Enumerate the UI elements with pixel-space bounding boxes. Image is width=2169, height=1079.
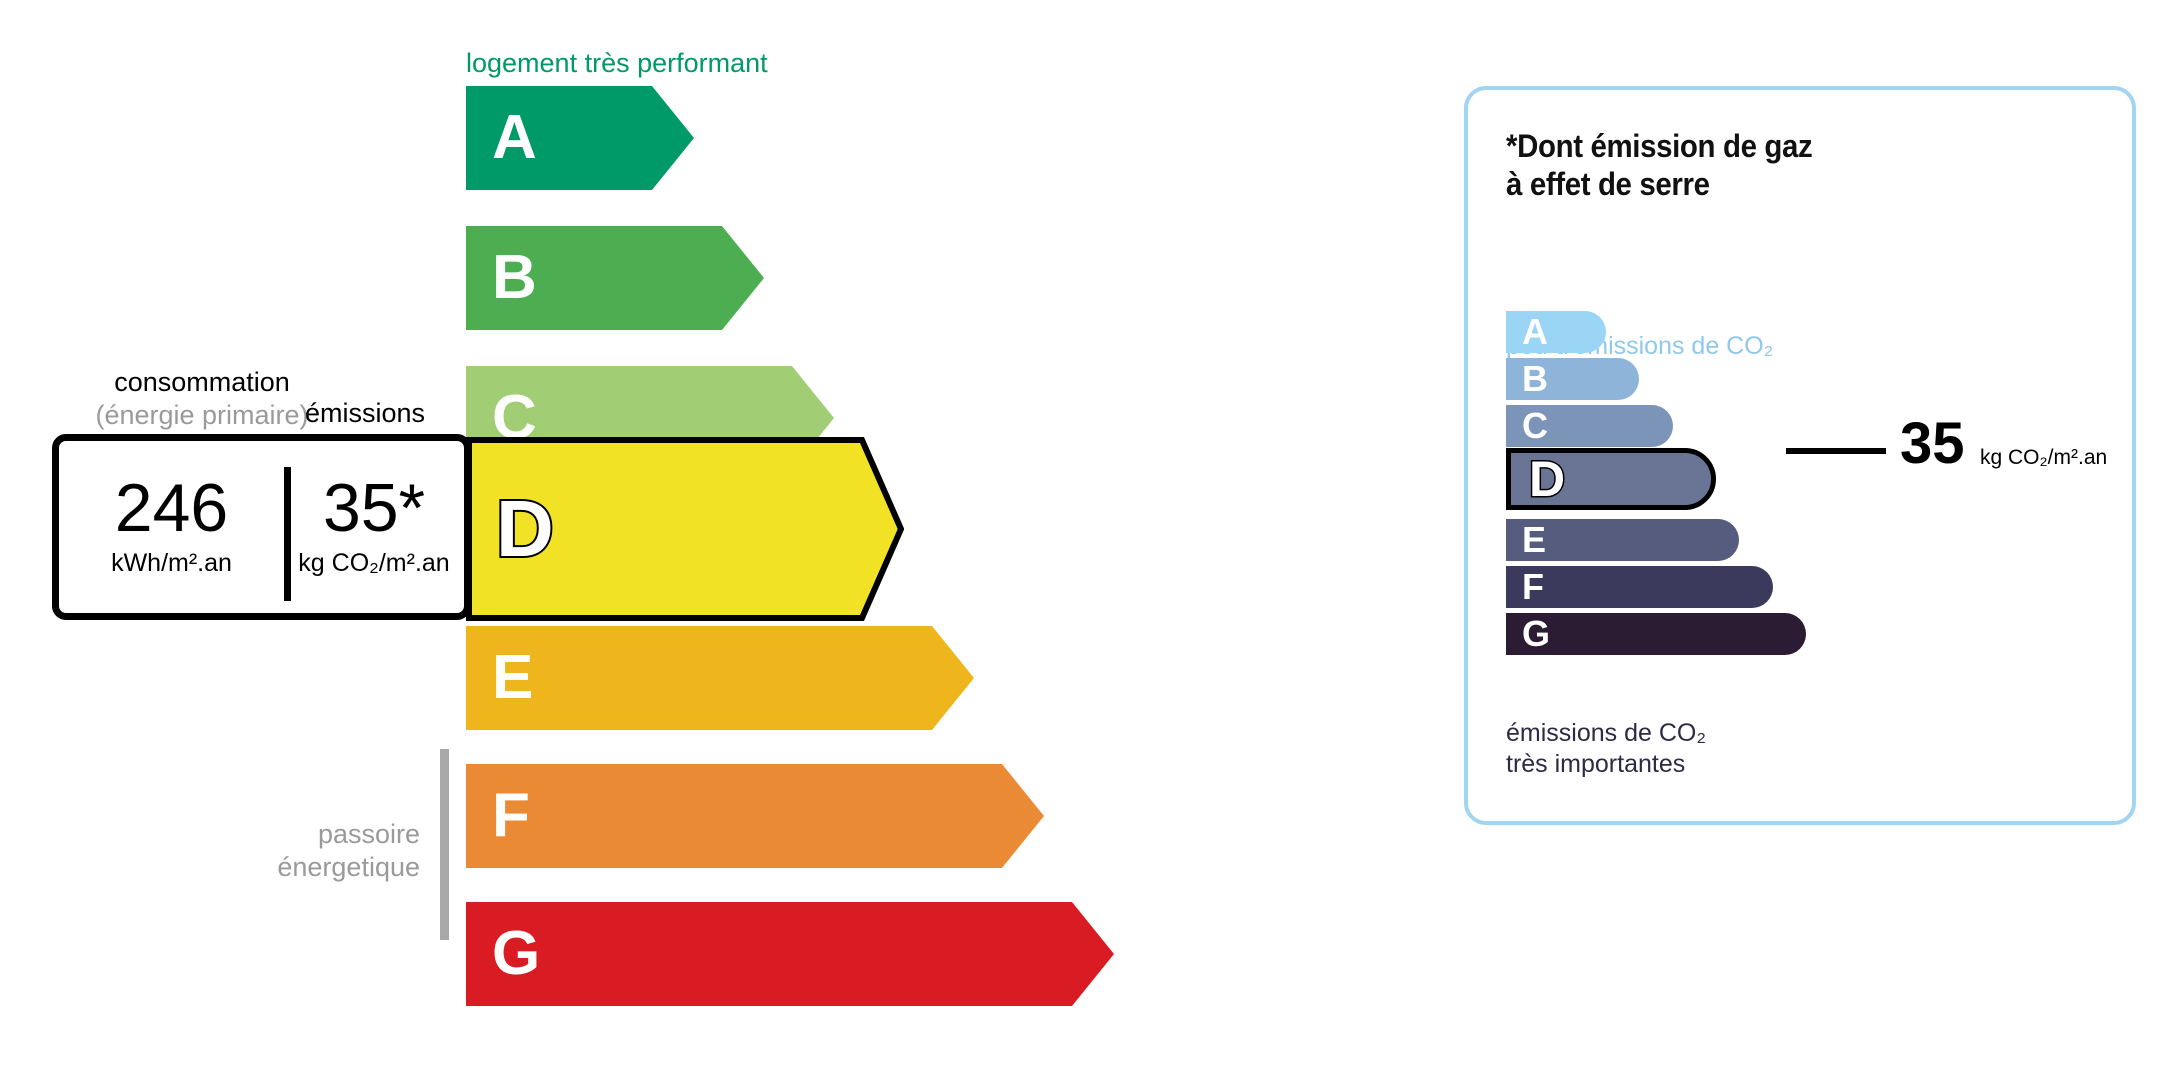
co2-bar-letter-g: G — [1522, 616, 1550, 652]
co2-bar-f: F — [1506, 566, 1773, 608]
co2-bar-fill-b: B — [1506, 358, 1639, 400]
consumption-value-cell: 246 kWh/m².an — [59, 441, 284, 613]
energy-bar-a: A — [466, 86, 694, 190]
energy-bar-shape-e — [466, 626, 974, 730]
co2-value-unit: kg CO₂/m².an — [1980, 447, 2107, 468]
co2-bar-fill-f: F — [1506, 566, 1773, 608]
energy-bar-e: E — [466, 626, 974, 730]
co2-bar-letter-a: A — [1522, 314, 1548, 350]
co2-bar-fill-g: G — [1506, 613, 1806, 655]
consumption-label-main: consommation — [114, 367, 290, 397]
consumption-unit: kWh/m².an — [111, 549, 232, 578]
energy-bar-letter-d: D — [496, 489, 554, 569]
value-box-divider — [284, 467, 291, 601]
energy-bar-letter-e: E — [492, 647, 533, 709]
consumption-value: 246 — [115, 476, 228, 541]
passoire-line1: passoire — [318, 819, 420, 849]
co2-bar-fill-d: D — [1506, 448, 1716, 510]
co2-bar-letter-c: C — [1522, 408, 1548, 444]
passoire-energetique-marker — [440, 749, 449, 940]
co2-bar-g: G — [1506, 613, 1806, 655]
co2-bar-fill-c: C — [1506, 405, 1673, 447]
energy-bar-letter-f: F — [492, 785, 530, 847]
co2-bar-e: E — [1506, 519, 1739, 561]
co2-bar-fill-a: A — [1506, 311, 1606, 353]
energy-bar-b: B — [466, 226, 764, 330]
co2-bar-d: D — [1506, 448, 1716, 510]
co2-bottom-line1: émissions de CO₂ — [1506, 719, 1706, 747]
co2-panel-title: *Dont émission de gaz à effet de serre — [1506, 128, 1812, 204]
co2-bar-fill-e: E — [1506, 519, 1739, 561]
co2-emissions-panel: *Dont émission de gaz à effet de serre p… — [1464, 86, 2136, 825]
energy-bar-letter-a: A — [492, 107, 537, 169]
co2-bottom-line2: très importantes — [1506, 750, 1685, 778]
passoire-energetique-label: passoire énergetique — [170, 818, 420, 884]
energy-bar-f: F — [466, 764, 1044, 868]
energy-top-caption: logement très performant — [466, 48, 768, 79]
emissions-label: émissions — [305, 398, 425, 429]
energy-bar-letter-g: G — [492, 923, 540, 985]
energy-bar-shape-f — [466, 764, 1044, 868]
passoire-line2: énergetique — [277, 852, 420, 882]
dpe-diagram: logement très performant ABCDEFG logemen… — [0, 0, 2169, 1079]
value-readout-box: 246 kWh/m².an 35* kg CO₂/m².an — [52, 434, 471, 620]
energy-bar-shape-g — [466, 902, 1114, 1006]
co2-title-line2: à effet de serre — [1506, 166, 1710, 202]
co2-bar-letter-b: B — [1522, 361, 1548, 397]
emissions-value: 35* — [323, 476, 425, 541]
co2-bar-b: B — [1506, 358, 1639, 400]
emissions-unit: kg CO₂/m².an — [298, 549, 449, 578]
energy-bar-g: G — [466, 902, 1114, 1006]
co2-leader-line — [1786, 448, 1886, 454]
co2-bar-c: C — [1506, 405, 1673, 447]
consumption-label: consommation (énergie primaire) — [62, 366, 342, 432]
co2-value: 35 — [1900, 415, 1965, 473]
energy-consumption-panel: logement très performant ABCDEFG logemen… — [0, 0, 1400, 1079]
co2-bar-letter-d: D — [1529, 454, 1565, 504]
co2-bar-letter-e: E — [1522, 522, 1546, 558]
co2-bottom-caption: émissions de CO₂ très importantes — [1506, 718, 1706, 779]
co2-bar-a: A — [1506, 311, 1606, 353]
co2-bar-letter-f: F — [1522, 569, 1544, 605]
co2-title-line1: *Dont émission de gaz — [1506, 128, 1812, 164]
consumption-label-sub: (énergie primaire) — [62, 399, 342, 432]
emissions-value-cell: 35* kg CO₂/m².an — [284, 441, 464, 613]
energy-bar-d: D — [466, 437, 904, 621]
energy-bar-letter-b: B — [492, 247, 537, 309]
